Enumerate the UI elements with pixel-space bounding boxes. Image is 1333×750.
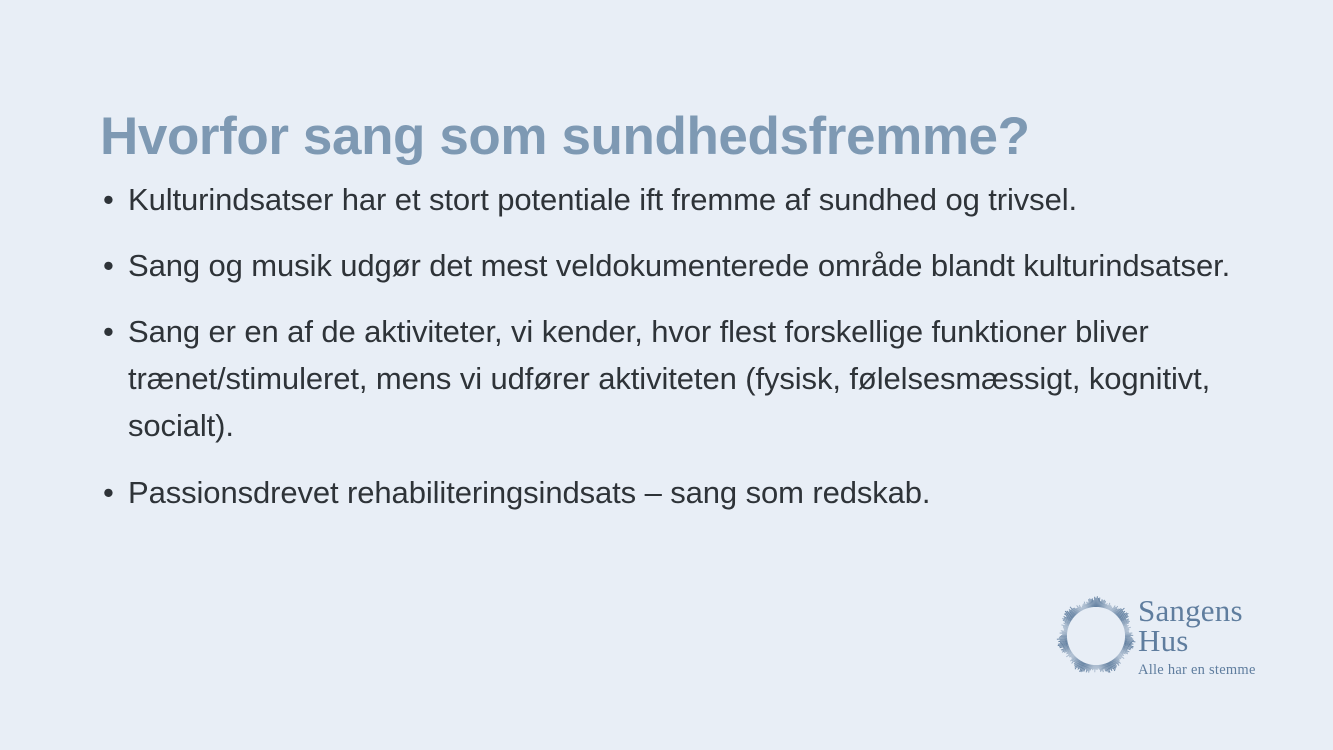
list-item-text: Passionsdrevet rehabiliteringsindsats – … (128, 469, 1233, 516)
list-item: • Sang og musik udgør det mest veldokume… (98, 242, 1233, 289)
bullet-dot-icon: • (103, 242, 114, 289)
logo-name-line-1: Sangens (1138, 596, 1270, 626)
bullet-dot-icon: • (103, 469, 114, 516)
bullet-dot-icon: • (103, 308, 114, 355)
logo-name-line-2: Hus (1138, 626, 1270, 656)
list-item-text: Kulturindsatser har et stort potentiale … (128, 176, 1233, 223)
logo-wordmark: Sangens Hus Alle har en stemme (1138, 596, 1270, 680)
list-item: • Sang er en af de aktiviteter, vi kende… (98, 308, 1233, 449)
list-item: • Passionsdrevet rehabiliteringsindsats … (98, 469, 1233, 516)
logo-tagline: Alle har en stemme (1138, 660, 1270, 680)
sangens-hus-logo: Sangens Hus Alle har en stemme (1052, 592, 1268, 680)
page-title: Hvorfor sang som sundhedsfremme? (100, 106, 1240, 169)
bullet-list: • Kulturindsatser har et stort potential… (98, 176, 1233, 516)
slide-canvas: Hvorfor sang som sundhedsfremme? • Kultu… (0, 0, 1333, 750)
list-item-text: Sang og musik udgør det mest veldokument… (128, 242, 1233, 289)
bullet-dot-icon: • (103, 176, 114, 223)
list-item-text: Sang er en af de aktiviteter, vi kender,… (128, 308, 1233, 449)
list-item: • Kulturindsatser har et stort potential… (98, 176, 1233, 223)
circular-soundwave-ring-icon (1052, 592, 1140, 680)
